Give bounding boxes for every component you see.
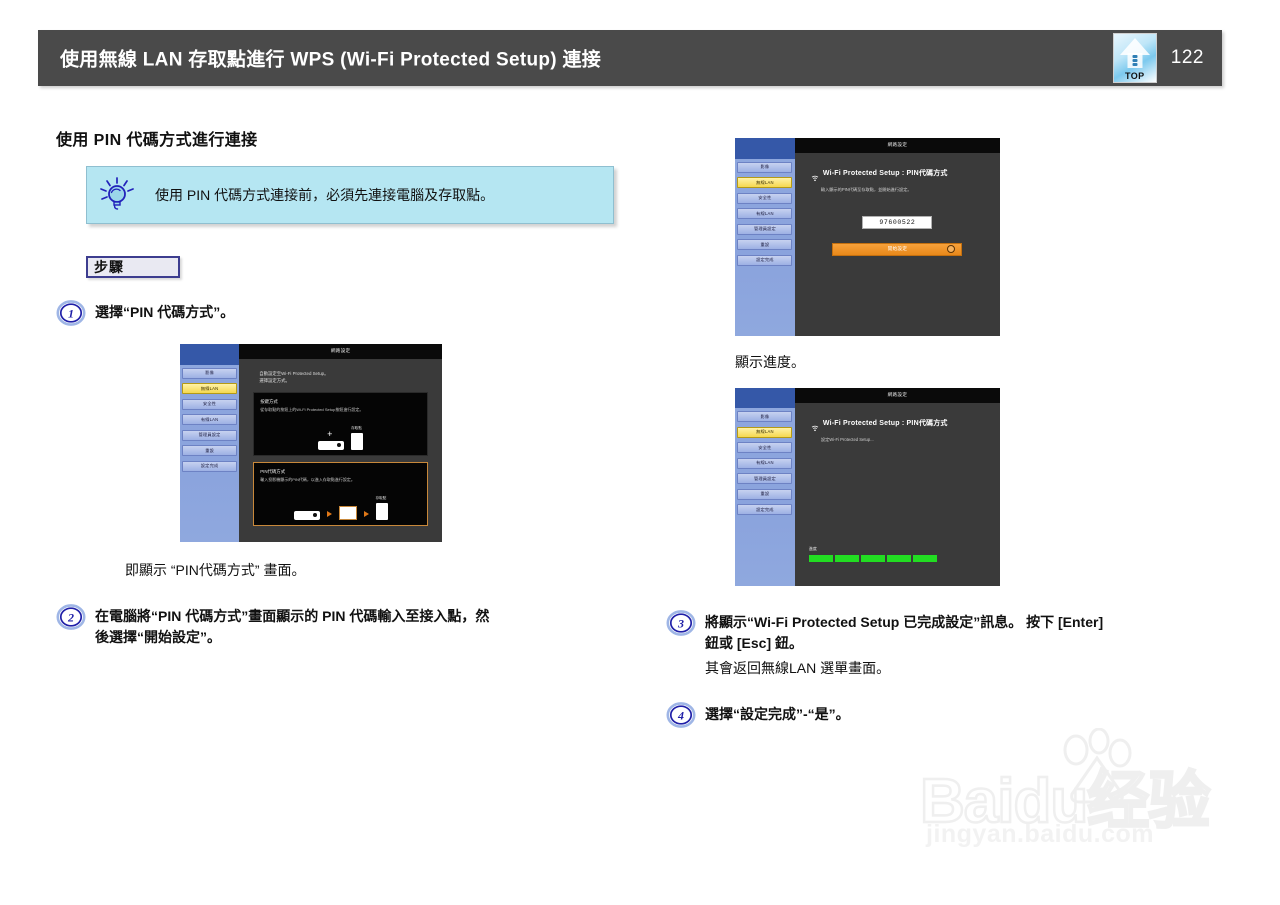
osd1-lead-line-1: 自動設定至Wi-Fi Protected Setup。: [259, 370, 434, 377]
osd1-panel-a-sub: 從存取點的按鈕上的Wi-Fi Protected Setup按鈕進行設定。: [260, 407, 421, 413]
osd2-menu-item-4[interactable]: 管理員設定: [737, 224, 792, 235]
progress-segment: [887, 555, 911, 562]
osd3-sidebar-header: [735, 388, 795, 409]
osd2-title: 網路設定: [795, 138, 1000, 153]
osd1-sidebar: 影像 無線LAN 安全性 有線LAN 管理員設定 重設 設定完成: [180, 344, 239, 542]
osd3-body: Wi-Fi Protected Setup : PIN代碼方式 設定Wi-Fi …: [795, 403, 1000, 586]
access-point-icon: [351, 433, 363, 450]
progress-bar: [809, 555, 937, 562]
top-button-label: TOP: [1125, 71, 1145, 82]
osd3-heading-row: Wi-Fi Protected Setup : PIN代碼方式: [811, 418, 992, 428]
osd2-menu-item-3[interactable]: 有線LAN: [737, 208, 792, 219]
osd-screenshot-3: 影像 無線LAN 安全性 有線LAN 管理員設定 重設 設定完成 網路設定: [735, 388, 1000, 586]
step-3-number: 3: [677, 616, 684, 630]
osd2-menu-item-0[interactable]: 影像: [737, 162, 792, 173]
gear-icon: [947, 245, 955, 253]
step-1-after-note: 即顯示 “PIN代碼方式” 畫面。: [125, 560, 666, 582]
osd1-panel-b-sub: 輸入投影機顯示的PIN代碼，以進入存取點進行設定。: [260, 477, 421, 483]
step-4-badge: 4: [666, 702, 696, 728]
watermark-url: jingyan.baidu.com: [926, 820, 1154, 849]
step-2-badge: 2: [56, 604, 86, 630]
step-3-row: 3 將顯示“Wi-Fi Protected Setup 已完成設定”訊息。 按下…: [666, 610, 1226, 680]
osd-screenshot-1: 影像 無線LAN 安全性 有線LAN 管理員設定 重設 設定完成 網路設定 自動…: [180, 344, 442, 542]
osd1-menu-item-1[interactable]: 無線LAN: [182, 383, 236, 394]
tip-callout: 使用 PIN 代碼方式連接前，必須先連接電腦及存取點。: [86, 166, 614, 224]
osd1-lead-line-2: 選擇設定方式。: [259, 377, 434, 384]
watermark-brand: Baidu经验: [920, 750, 1209, 840]
step-3-badge: 3: [666, 610, 696, 636]
steps-label-box: 步驟: [86, 256, 180, 278]
osd3-menu-item-3[interactable]: 有線LAN: [737, 458, 792, 469]
osd2-menu-item-2[interactable]: 安全性: [737, 193, 792, 204]
osd2-heading-row: Wi-Fi Protected Setup : PIN代碼方式: [811, 168, 992, 178]
progress-indicator: 進度: [809, 546, 937, 562]
osd2-sidebar-header: [735, 138, 795, 159]
page-number: 122: [1171, 47, 1204, 69]
step-1-text: 選擇“PIN 代碼方式”。: [95, 300, 234, 324]
osd1-title: 網路設定: [239, 344, 442, 359]
progress-segment: [809, 555, 833, 562]
osd1-menu-item-6[interactable]: 設定完成: [182, 461, 236, 472]
osd3-subtext: 設定Wi-Fi Protected Setup...: [821, 437, 992, 444]
osd1-menu-item-0[interactable]: 影像: [182, 368, 236, 379]
page-title: 使用無線 LAN 存取點進行 WPS (Wi-Fi Protected Setu…: [60, 45, 601, 72]
osd1-panel-a-title: 按鍵方式: [260, 398, 421, 405]
osd3-menu-item-1[interactable]: 無線LAN: [737, 427, 792, 438]
osd2-body: Wi-Fi Protected Setup : PIN代碼方式 輸入顯示的PIN…: [795, 153, 1000, 336]
osd1-panel-pushbutton[interactable]: 按鍵方式 從存取點的按鈕上的Wi-Fi Protected Setup按鈕進行設…: [253, 392, 428, 456]
osd3-heading: Wi-Fi Protected Setup : PIN代碼方式: [823, 418, 948, 428]
osd2-menu-item-6[interactable]: 設定完成: [737, 255, 792, 266]
computer-icon: [339, 506, 357, 520]
section-heading: 使用 PIN 代碼方式進行連接: [56, 126, 666, 150]
osd1-panel-b-title: PIN代碼方式: [260, 468, 421, 475]
tip-text: 使用 PIN 代碼方式連接前，必須先連接電腦及存取點。: [155, 185, 494, 206]
osd2-sidebar: 影像 無線LAN 安全性 有線LAN 管理員設定 重設 設定完成: [735, 138, 795, 336]
step-3-text: 將顯示“Wi-Fi Protected Setup 已完成設定”訊息。 按下 […: [705, 610, 1103, 680]
header-right-group: TOP 122: [1113, 30, 1222, 86]
start-setup-button-label: 開始設定: [888, 246, 908, 252]
osd1-menu-item-4[interactable]: 管理員設定: [182, 430, 236, 441]
step-2-row: 2 在電腦將“PIN 代碼方式”畫面顯示的 PIN 代碼輸入至接入點，然 後選擇…: [56, 604, 666, 649]
osd1-menu: 影像 無線LAN 安全性 有線LAN 管理員設定 重設 設定完成: [182, 368, 236, 477]
pin-code-field: 97600522: [862, 216, 932, 229]
osd1-menu-item-5[interactable]: 重設: [182, 445, 236, 456]
osd1-panel-pincode[interactable]: PIN代碼方式 輸入投影機顯示的PIN代碼，以進入存取點進行設定。 存取點: [253, 462, 428, 526]
left-column: 使用 PIN 代碼方式進行連接 使用 PIN 代碼方式連接前，必須先連接電腦及存…: [56, 126, 666, 649]
access-point-icon: [376, 503, 388, 520]
step-1-number: 1: [68, 307, 74, 321]
remote-icon: [294, 511, 320, 520]
lightbulb-icon: [97, 176, 137, 214]
osd1-sidebar-header: [180, 344, 239, 365]
osd2-heading: Wi-Fi Protected Setup : PIN代碼方式: [823, 168, 948, 178]
step-4-number: 4: [677, 708, 684, 722]
wifi-icon: [811, 169, 819, 177]
step-3-line-2: 鈕或 [Esc] 鈕。: [705, 633, 1103, 655]
osd2-subtext: 輸入顯示的PIN代碼至存取點，並開始進行設定。: [821, 187, 992, 194]
step-2-number: 2: [67, 610, 74, 624]
baidu-watermark: Baidu经验 jingyan.baidu.com: [920, 728, 1220, 853]
right-column: 影像 無線LAN 安全性 有線LAN 管理員設定 重設 設定完成 網路設定: [666, 126, 1226, 728]
progress-segment: [861, 555, 885, 562]
start-setup-button[interactable]: 開始設定: [832, 243, 962, 256]
step-2-text: 在電腦將“PIN 代碼方式”畫面顯示的 PIN 代碼輸入至接入點，然 後選擇“開…: [95, 604, 489, 649]
osd1-panel-b-diagram: 存取點: [254, 503, 427, 520]
osd2-menu-item-1[interactable]: 無線LAN: [737, 177, 792, 188]
step-1-badge: 1: [56, 300, 86, 326]
osd2-menu: 影像 無線LAN 安全性 有線LAN 管理員設定 重設 設定完成: [737, 162, 792, 271]
osd3-sidebar: 影像 無線LAN 安全性 有線LAN 管理員設定 重設 設定完成: [735, 388, 795, 586]
plus-icon: +: [327, 430, 332, 439]
osd3-menu-item-6[interactable]: 設定完成: [737, 504, 792, 515]
arrow-right-icon: [364, 511, 369, 517]
step-3-sub-note: 其會返回無線LAN 選單畫面。: [705, 658, 1103, 680]
osd1-panel-b-tag: 存取點: [376, 496, 387, 501]
step-4-text: 選擇“設定完成”-“是”。: [705, 702, 850, 726]
progress-segment: [913, 555, 937, 562]
osd3-menu-item-2[interactable]: 安全性: [737, 442, 792, 453]
progress-label: 進度: [809, 546, 937, 552]
arrow-right-icon: [327, 511, 332, 517]
osd-screenshot-2: 影像 無線LAN 安全性 有線LAN 管理員設定 重設 設定完成 網路設定: [735, 138, 1000, 336]
osd3-menu-item-4[interactable]: 管理員設定: [737, 473, 792, 484]
page-header: 使用無線 LAN 存取點進行 WPS (Wi-Fi Protected Setu…: [38, 30, 1222, 86]
osd1-menu-item-3[interactable]: 有線LAN: [182, 414, 236, 425]
osd3-menu-item-0[interactable]: 影像: [737, 411, 792, 422]
steps-label-text: 步驟: [88, 257, 124, 277]
remote-icon: [318, 441, 344, 450]
progress-segment: [835, 555, 859, 562]
osd1-panel-a-tag: 存取點: [351, 426, 362, 431]
step-3-line-1: 將顯示“Wi-Fi Protected Setup 已完成設定”訊息。 按下 […: [705, 612, 1103, 634]
osd3-menu-item-5[interactable]: 重設: [737, 489, 792, 500]
progress-note: 顯示進度。: [735, 352, 1226, 374]
step-1-row: 1 選擇“PIN 代碼方式”。: [56, 300, 666, 326]
osd1-panel-a-diagram: + 存取點: [254, 433, 427, 450]
osd3-menu: 影像 無線LAN 安全性 有線LAN 管理員設定 重設 設定完成: [737, 411, 792, 520]
top-button[interactable]: TOP: [1113, 33, 1157, 83]
osd3-title: 網路設定: [795, 388, 1000, 403]
paw-print-icon: [1050, 728, 1136, 808]
osd1-menu-item-2[interactable]: 安全性: [182, 399, 236, 410]
step-2-line-2: 後選擇“開始設定”。: [95, 627, 489, 649]
wifi-icon: [811, 419, 819, 427]
osd2-menu-item-5[interactable]: 重設: [737, 239, 792, 250]
osd1-body: 自動設定至Wi-Fi Protected Setup。 選擇設定方式。 按鍵方式…: [239, 359, 442, 542]
projector-lens-dots-icon: [1131, 55, 1138, 66]
step-4-row: 4 選擇“設定完成”-“是”。: [666, 702, 1226, 728]
step-2-line-1: 在電腦將“PIN 代碼方式”畫面顯示的 PIN 代碼輸入至接入點，然: [95, 606, 489, 628]
